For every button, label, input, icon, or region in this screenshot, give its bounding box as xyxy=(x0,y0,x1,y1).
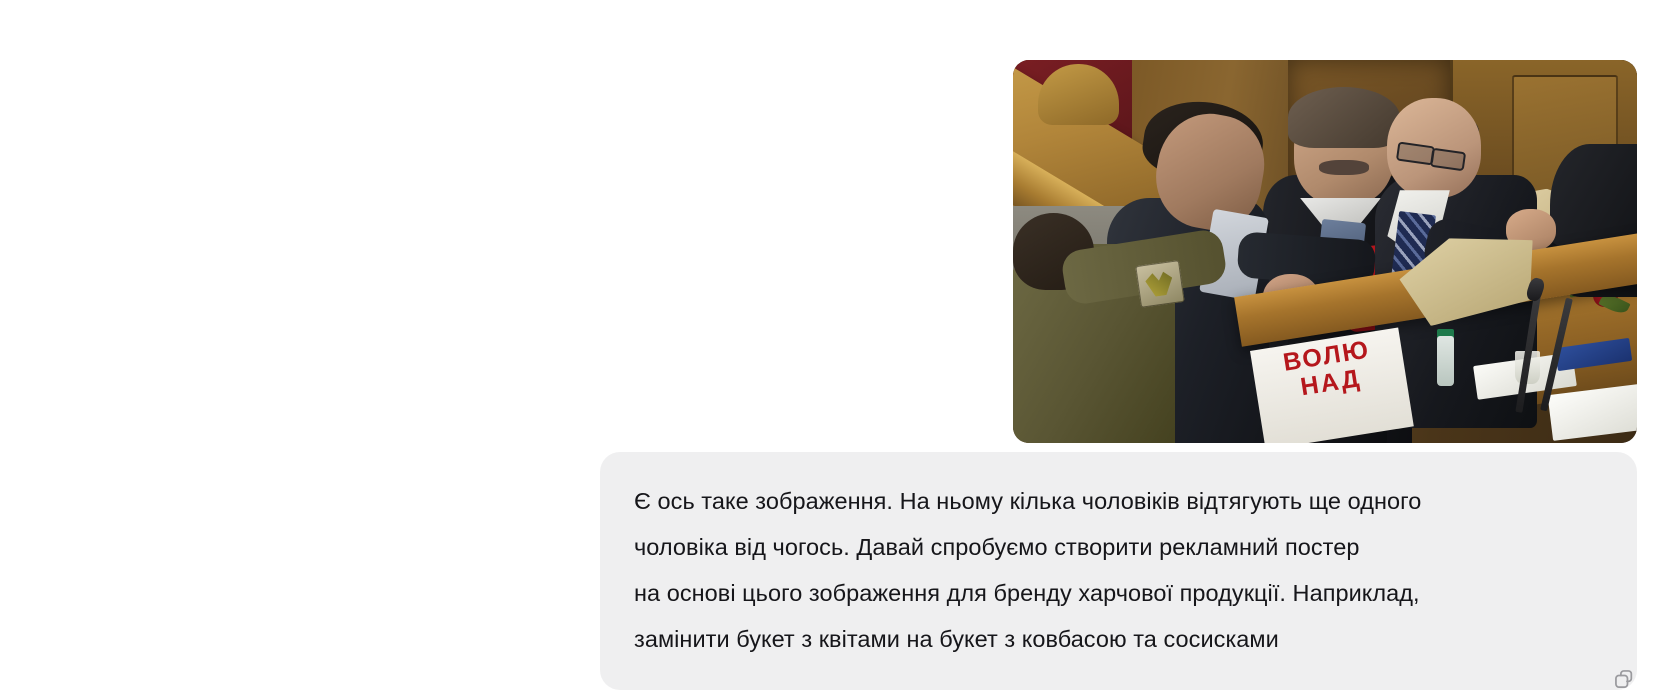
chat-screen: ВОЛЮ НАД Є ось таке зображення. На ньому… xyxy=(0,0,1666,698)
user-message-bubble: Є ось таке зображення. На ньому кілька ч… xyxy=(600,452,1637,690)
water-bottle xyxy=(1437,336,1453,386)
user-message-text: Є ось таке зображення. На ньому кілька ч… xyxy=(634,478,1603,662)
copy-message-button[interactable] xyxy=(1607,664,1641,694)
person-2-moustache xyxy=(1319,160,1369,175)
attached-image[interactable]: ВОЛЮ НАД xyxy=(1013,60,1637,443)
person-2-hair xyxy=(1288,87,1400,148)
person-khaki-shoulder-patch xyxy=(1135,260,1184,308)
copy-icon xyxy=(1613,668,1635,690)
photo-canvas: ВОЛЮ НАД xyxy=(1013,60,1637,443)
